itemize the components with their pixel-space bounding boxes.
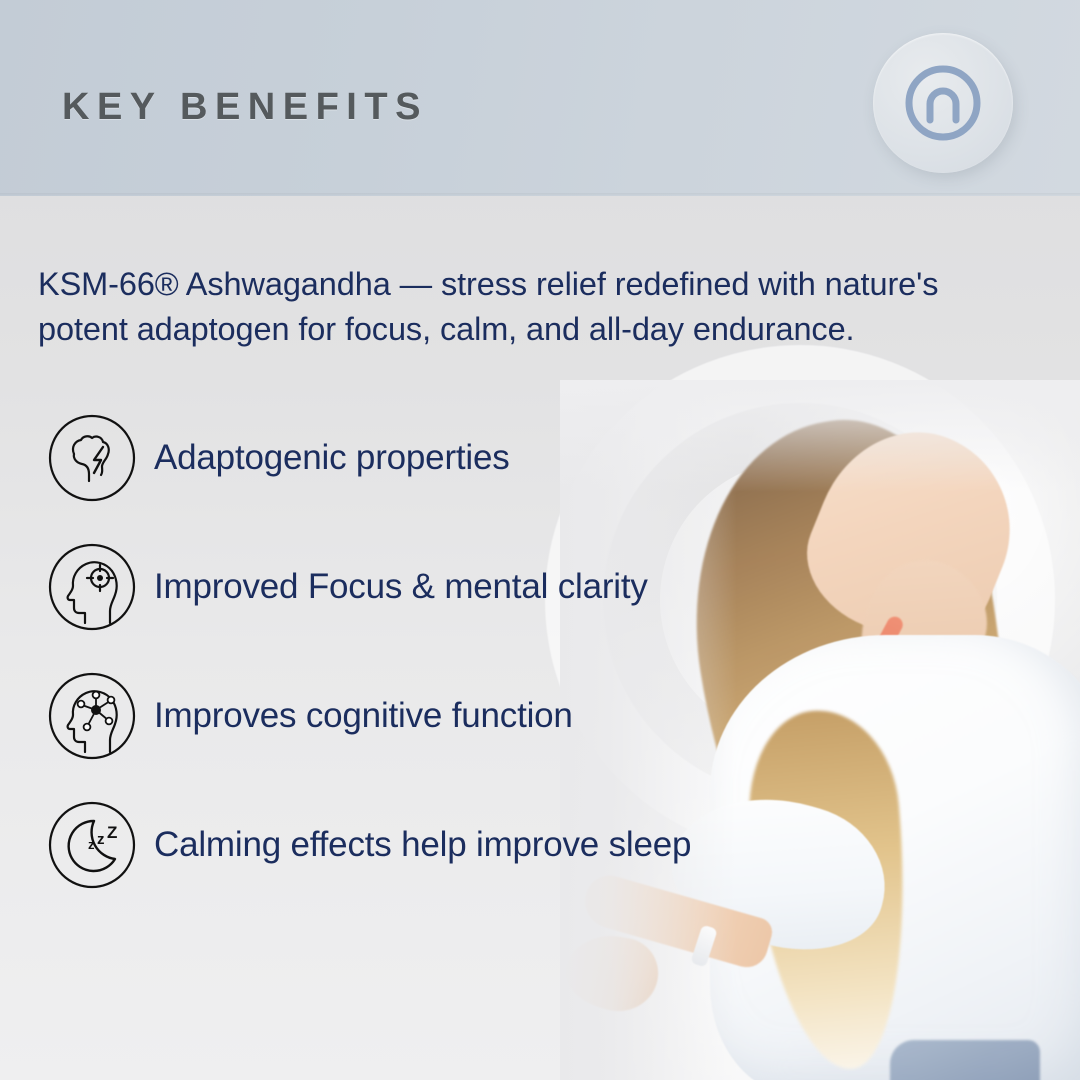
- key-benefits-infographic: KEY BENEFITS KSM-66® Ashwagandha — stres…: [0, 0, 1080, 1080]
- benefit-item-focus: Improved Focus & mental clarity: [46, 537, 876, 637]
- svg-text:z: z: [88, 837, 95, 852]
- svg-text:Z: Z: [107, 823, 117, 842]
- head-target-crosshair-icon: [46, 541, 138, 633]
- benefit-item-cognitive: Improves cognitive function: [46, 666, 876, 766]
- brand-logo-badge: [873, 33, 1013, 173]
- benefit-label: Calming effects help improve sleep: [154, 825, 691, 865]
- benefit-label: Improved Focus & mental clarity: [154, 567, 648, 607]
- benefit-item-sleep: z z Z Calming effects help improve sleep: [46, 795, 876, 895]
- moon-zzz-sleep-icon: z z Z: [46, 799, 138, 891]
- benefit-label: Improves cognitive function: [154, 696, 573, 736]
- svg-text:z: z: [97, 831, 105, 848]
- brand-n-monogram-icon: [900, 60, 986, 146]
- benefits-list: Adaptogenic properties Improved Focus & …: [46, 408, 876, 924]
- benefit-label: Adaptogenic properties: [154, 438, 510, 478]
- intro-paragraph: KSM-66® Ashwagandha — stress relief rede…: [38, 262, 998, 352]
- benefit-item-adaptogenic: Adaptogenic properties: [46, 408, 876, 508]
- brain-lightning-icon: [46, 412, 138, 504]
- head-neural-network-icon: [46, 670, 138, 762]
- page-title: KEY BENEFITS: [62, 86, 428, 129]
- header-band: KEY BENEFITS: [0, 0, 1080, 196]
